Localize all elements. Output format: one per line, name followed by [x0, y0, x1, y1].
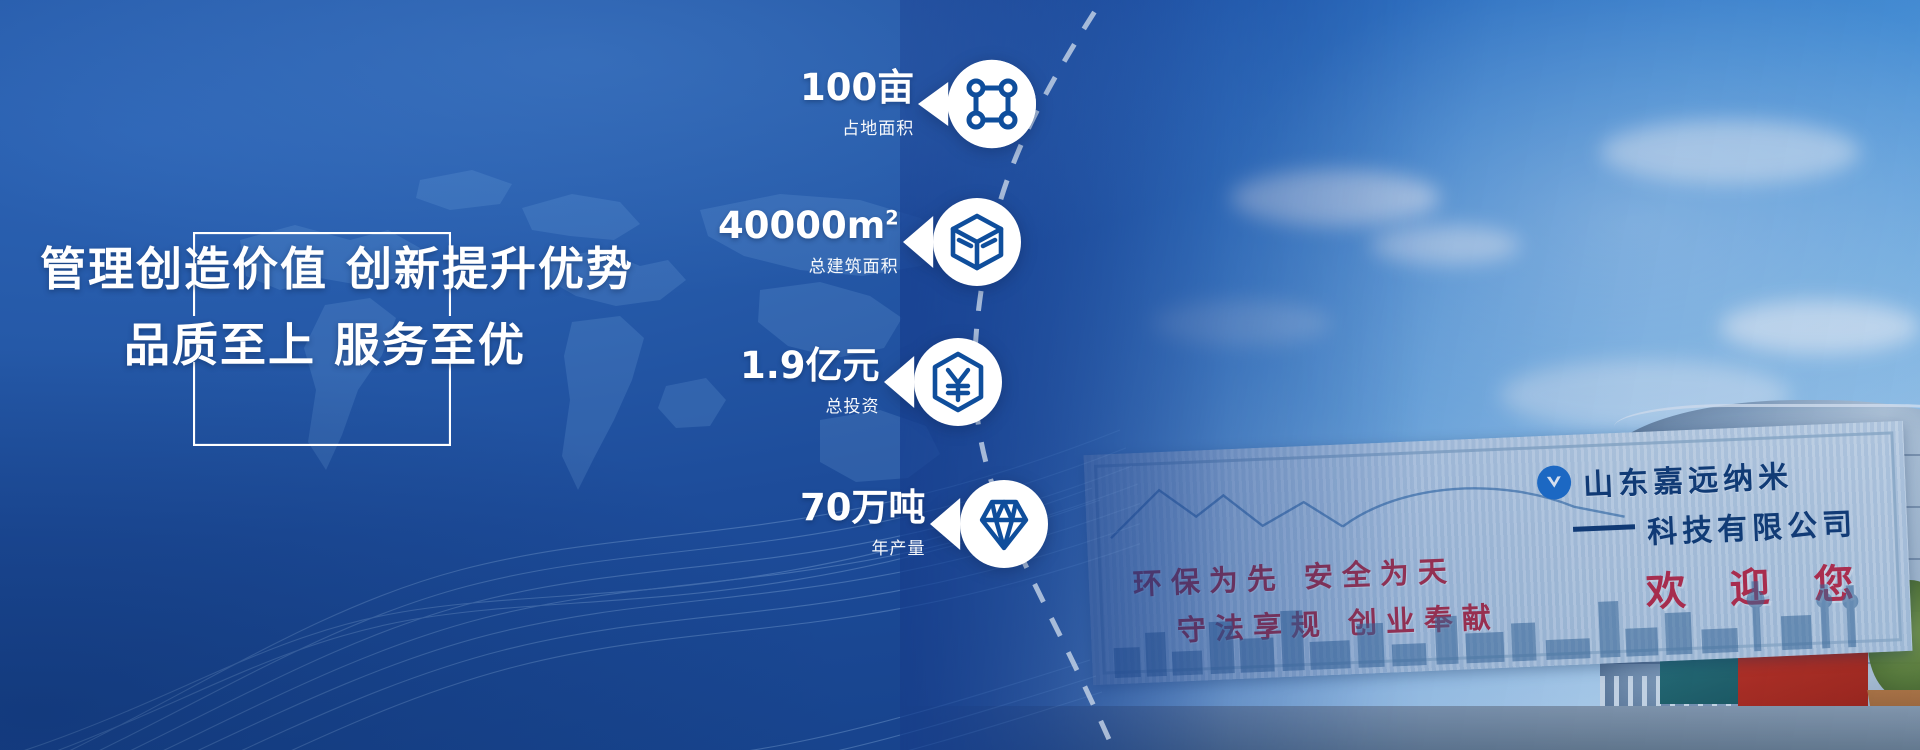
- stat-label-investment: 总投资: [740, 392, 880, 417]
- stat-value-building-area: 40000m2: [718, 207, 899, 246]
- stat-label-land-area: 占地面积: [800, 114, 914, 139]
- stat-text-investment: 1.9亿元 总投资: [740, 347, 880, 417]
- stat-value-land-area: 100亩: [800, 69, 914, 108]
- headline-line-1: 管理创造价值 创新提升优势: [40, 238, 560, 300]
- stat-marker-building-area[interactable]: 40000m2 总建筑面积: [718, 190, 1021, 294]
- stat-marker-land-area[interactable]: 100亩 占地面积: [800, 52, 1036, 156]
- company-hero-banner: 山东嘉远纳米 科技有限公司 环保为先 安全为天 守法享规 创业奉献 欢迎您: [0, 0, 1920, 750]
- pin-building-area[interactable]: [903, 190, 1021, 294]
- stat-value-annual-output: 70万吨: [800, 489, 926, 528]
- stat-value-superscript: 2: [885, 207, 898, 230]
- stat-label-annual-output: 年产量: [800, 534, 926, 559]
- headline-line-2: 品质至上 服务至优: [124, 314, 560, 376]
- stat-value-investment: 1.9亿元: [740, 347, 880, 386]
- stat-text-annual-output: 70万吨 年产量: [800, 489, 926, 559]
- stat-label-building-area: 总建筑面积: [718, 252, 899, 277]
- stat-marker-investment[interactable]: 1.9亿元 总投资: [740, 330, 1002, 434]
- stat-text-land-area: 100亩 占地面积: [800, 69, 914, 139]
- pin-investment[interactable]: [884, 330, 1002, 434]
- pin-annual-output[interactable]: [930, 472, 1048, 576]
- pin-land-area[interactable]: [918, 52, 1036, 156]
- headline-block: 管理创造价值 创新提升优势 品质至上 服务至优: [40, 238, 560, 376]
- stat-text-building-area: 40000m2 总建筑面积: [718, 207, 899, 277]
- stat-marker-annual-output[interactable]: 70万吨 年产量: [800, 472, 1048, 576]
